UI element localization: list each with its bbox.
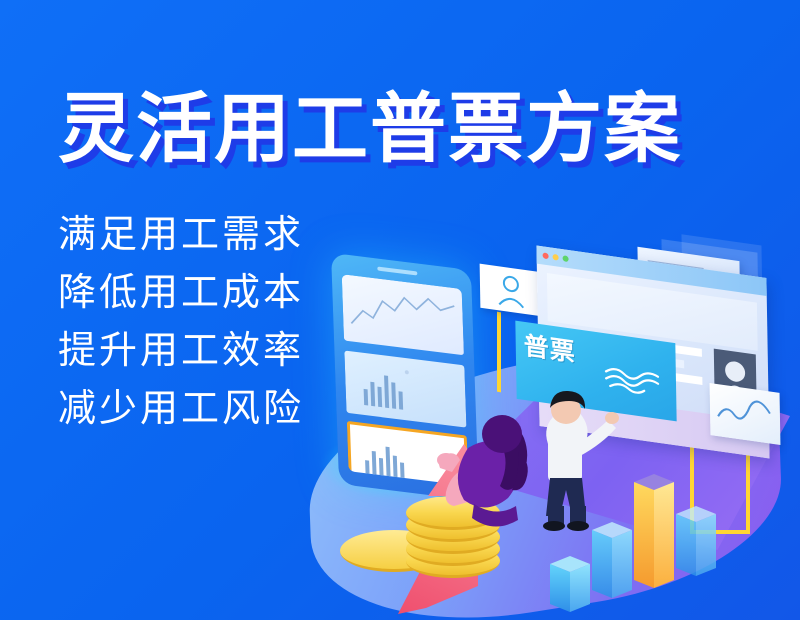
phone-line-chart-card [342, 274, 464, 355]
line-chart-icon [342, 274, 464, 355]
bar-2 [592, 522, 632, 598]
benefit-item-1: 满足用工需求 [58, 216, 304, 254]
page-title: 灵活用工普票方案 [58, 92, 682, 168]
maximize-icon[interactable] [563, 255, 569, 262]
benefit-list: 满足用工需求 降低用工成本 提升用工效率 减少用工风险 [58, 216, 304, 448]
bar-3-highlight [634, 474, 674, 588]
bar-4 [676, 506, 716, 576]
user-icon [480, 264, 543, 317]
user-id-card[interactable] [480, 264, 543, 317]
benefit-item-4: 减少用工风险 [58, 390, 304, 428]
phone-speaker [377, 267, 417, 276]
close-icon[interactable] [543, 252, 549, 259]
isometric-bar-chart [542, 456, 742, 616]
benefit-item-3: 提升用工效率 [58, 332, 304, 370]
poster-canvas: 灵活用工普票方案 满足用工需求 降低用工成本 提升用工效率 减少用工风险 [0, 0, 800, 620]
isometric-illustration: 普票 [280, 240, 800, 620]
bar-1 [550, 556, 590, 612]
line-chart-card[interactable] [710, 383, 781, 445]
wave-chart-icon [710, 383, 781, 445]
fapiao-label: 普票 [524, 334, 576, 366]
benefit-item-2: 降低用工成本 [58, 274, 304, 312]
minimize-icon[interactable] [553, 254, 559, 261]
